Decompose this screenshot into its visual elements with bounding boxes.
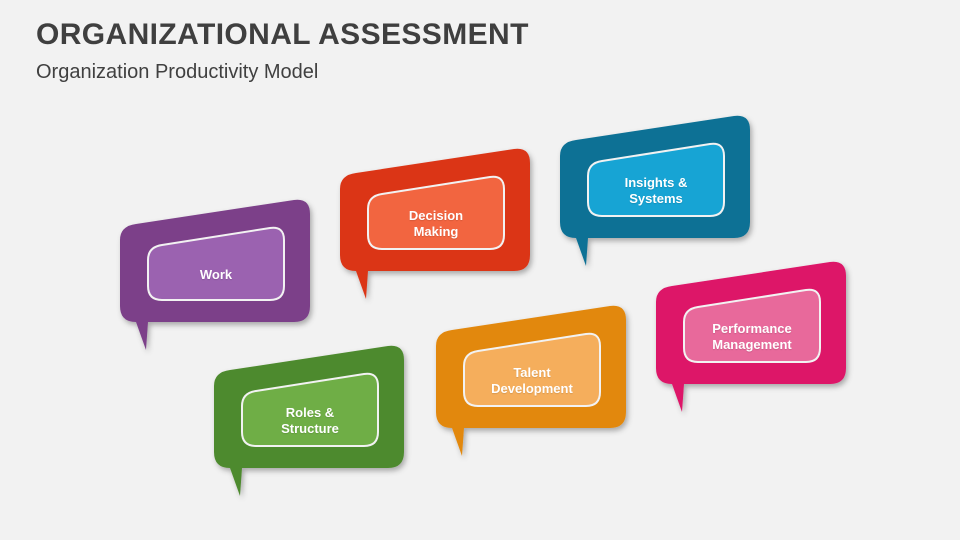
speech-bubble-performance-management[interactable]: Performance Management — [654, 258, 858, 416]
page-title: ORGANIZATIONAL ASSESSMENT — [36, 18, 916, 53]
slide-header: ORGANIZATIONAL ASSESSMENT Organization P… — [36, 18, 916, 84]
speech-bubble-shape-insights-systems — [558, 112, 762, 270]
speech-bubble-shape-talent-development — [434, 302, 638, 460]
speech-bubble-roles-structure[interactable]: Roles & Structure — [212, 342, 416, 500]
speech-bubble-work[interactable]: Work — [118, 196, 322, 354]
speech-bubble-shape-roles-structure — [212, 342, 416, 500]
speech-bubble-shape-decision-making — [338, 145, 542, 303]
speech-bubble-insights-systems[interactable]: Insights & Systems — [558, 112, 762, 270]
speech-bubble-decision-making[interactable]: Decision Making — [338, 145, 542, 303]
speech-bubble-shape-work — [118, 196, 322, 354]
slide-canvas: ORGANIZATIONAL ASSESSMENT Organization P… — [0, 0, 960, 540]
speech-bubble-shape-performance-management — [654, 258, 858, 416]
page-subtitle: Organization Productivity Model — [36, 61, 916, 84]
speech-bubble-talent-development[interactable]: Talent Development — [434, 302, 638, 460]
